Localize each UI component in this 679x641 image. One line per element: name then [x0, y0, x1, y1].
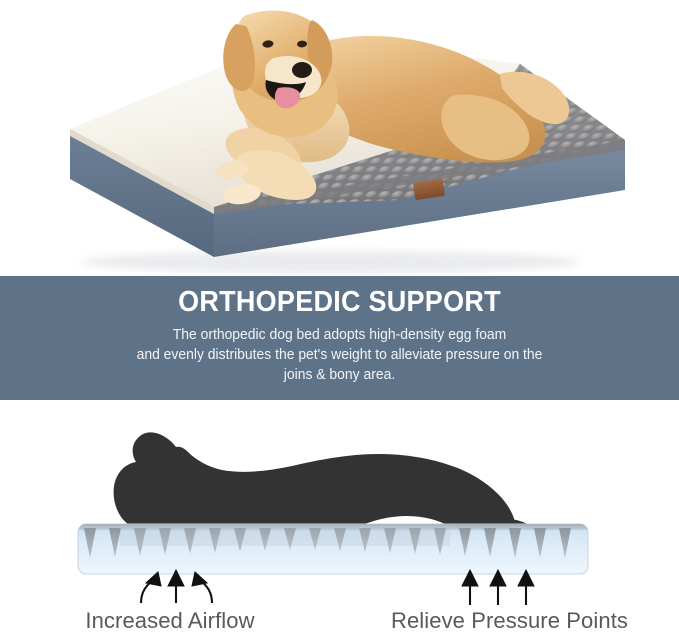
banner-description-line-1: The orthopedic dog bed adopts high-densi… — [14, 325, 666, 345]
banner-title: ORTHOPEDIC SUPPORT — [24, 285, 655, 319]
golden-retriever-photo-subject — [0, 0, 679, 276]
dog-nose — [292, 62, 312, 78]
foam-mattress — [78, 524, 588, 574]
pressure-arrows — [462, 570, 534, 605]
banner-description-line-2: and evenly distributes the pet's weight … — [14, 345, 666, 365]
airflow-arrows — [141, 570, 212, 603]
banner-description: The orthopedic dog bed adopts high-densi… — [14, 325, 666, 385]
diagram-illustration — [0, 400, 679, 641]
product-photo — [0, 0, 679, 276]
product-feature-image: ORTHOPEDIC SUPPORT The orthopedic dog be… — [0, 0, 679, 641]
banner-description-line-3: joins & bony area. — [14, 365, 666, 385]
airflow-pressure-diagram: Increased Airflow Relieve Pressure Point… — [0, 400, 679, 641]
caption-relieve-pressure-points: Relieve Pressure Points — [340, 608, 679, 634]
orthopedic-support-banner: ORTHOPEDIC SUPPORT The orthopedic dog be… — [0, 276, 679, 400]
product-photo-panel — [0, 0, 679, 276]
caption-increased-airflow: Increased Airflow — [0, 608, 340, 634]
diagram-captions: Increased Airflow Relieve Pressure Point… — [0, 608, 679, 634]
